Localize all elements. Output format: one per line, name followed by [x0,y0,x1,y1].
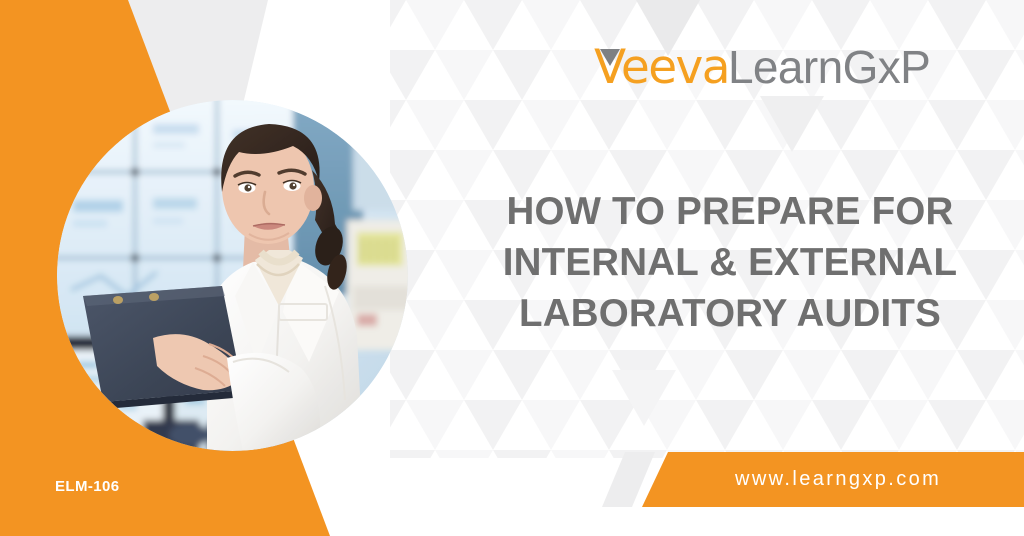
page-title-line-3: LABORATORY AUDITS [452,288,1008,339]
hero-photo-circle [57,100,408,451]
page-title: HOW TO PREPARE FOR INTERNAL & EXTERNAL L… [452,186,1008,340]
veeva-learngxp-logo[interactable]: Veeva LearnGxP [594,44,930,91]
footer-url[interactable]: www.learngxp.com [735,468,941,491]
course-code-label: ELM-106 [55,478,120,495]
logo-learngxp-text: LearnGxP [728,44,930,90]
veeva-v-triangle-icon [600,49,620,66]
logo-veeva-wrap: Veeva [594,44,729,91]
presentation-slide: Veeva LearnGxP HOW TO PREPARE FOR INTERN… [0,0,1024,536]
page-title-line-2: INTERNAL & EXTERNAL [452,237,1008,288]
page-title-line-1: HOW TO PREPARE FOR [452,186,1008,237]
